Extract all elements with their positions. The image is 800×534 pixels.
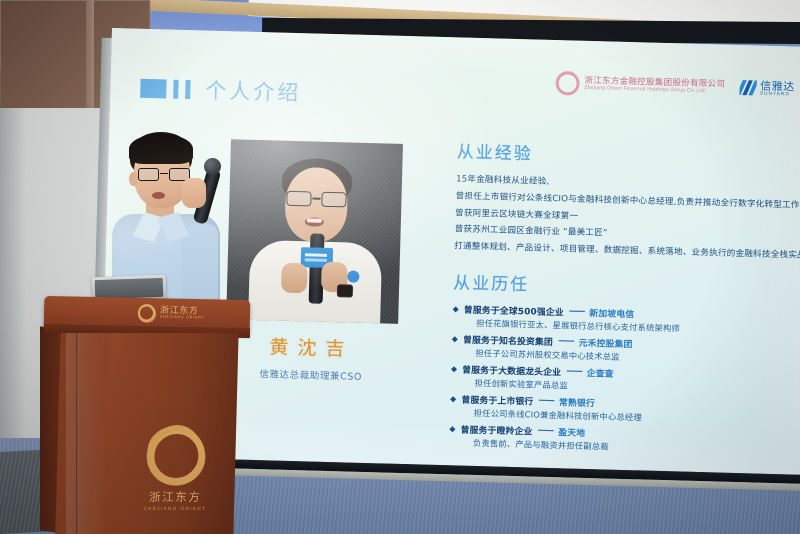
orient-flower-emblem-icon — [150, 430, 203, 482]
history-main-text: 曾服务于全球500强企业 — [464, 302, 564, 318]
history-main-text: 曾服务于大数据龙头企业 — [462, 362, 561, 378]
history-company: 企查查 — [587, 366, 614, 380]
podium-front-logo-en: ZHEJIANG ORIENT — [127, 506, 223, 511]
microphone-head-icon — [204, 158, 221, 175]
speaker-hand — [182, 178, 206, 208]
podium-sheen — [66, 333, 106, 534]
speaker-glasses-icon — [138, 168, 190, 182]
speaker-ear — [129, 172, 138, 186]
soffit-edge — [86, 0, 94, 116]
zhejiang-orient-logo: 浙江东方金融控股集团股份有限公司 Zhejiang Orient Financi… — [556, 72, 725, 99]
title-bar-icon — [140, 78, 167, 98]
history-dash: —— — [558, 336, 574, 346]
podium-front-logo: 浙江东方 ZHEJIANG ORIENT — [127, 430, 225, 511]
history-dash: —— — [538, 396, 554, 406]
podium-groove — [76, 333, 79, 534]
podium-logo-en: ZHEJIANG ORIENT — [160, 316, 205, 321]
history-item: ◆ 曾服务于上市银行 —— 常熟银行 担任公司条线CIO兼金融科技创新中心总经理 — [450, 392, 781, 427]
portrait-hand-left — [281, 263, 308, 294]
history-main-text: 曾服务于瞪羚企业 — [460, 422, 532, 437]
history-company: 新加坡电信 — [589, 306, 634, 320]
podium-top-logo: 浙江东方 ZHEJIANG ORIENT — [138, 304, 205, 322]
history-item: ◆ 曾服务于瞪羚企业 —— 盈天地 负责售前、产品与融资并担任副总裁 — [449, 422, 780, 457]
sunyard-logo-en: SUNYARD — [760, 92, 795, 98]
portrait-mouth — [305, 217, 324, 227]
experience-heading: 从业经验 — [456, 137, 787, 171]
diamond-bullet-icon: ◆ — [452, 334, 459, 343]
history-dash: —— — [537, 426, 553, 436]
speaker-name: 黄沈吉 — [225, 331, 398, 363]
portrait-glasses-icon — [285, 191, 347, 208]
sunyard-mark-icon — [739, 80, 756, 95]
slide-title-row: 个人介绍 — [140, 73, 302, 107]
history-item: ◆ 曾服务于大数据龙头企业 —— 企查查 担任创新实验室产品总监 — [450, 362, 781, 397]
history-dash: —— — [569, 307, 585, 317]
conference-room-photo: 个人介绍 浙江东方金融控股集团股份有限公司 Zhejiang Orient Fi… — [0, 0, 800, 534]
slide-title: 个人介绍 — [205, 75, 302, 108]
speaker-portrait-photo — [226, 139, 403, 324]
podium-front-logo-cn: 浙江东方 — [127, 489, 223, 505]
diamond-bullet-icon: ◆ — [452, 304, 459, 313]
history-dash: —— — [566, 367, 582, 377]
diamond-bullet-icon: ◆ — [450, 394, 457, 403]
history-company: 盈天地 — [558, 425, 585, 439]
history-company: 元禾控股集团 — [578, 335, 632, 349]
slide-logos: 浙江东方金融控股集团股份有限公司 Zhejiang Orient Financi… — [556, 72, 795, 100]
sunyard-logo: 信雅达 SUNYARD — [739, 80, 795, 97]
orient-flower-emblem-icon — [556, 72, 579, 95]
slide-text-column: 从业经验 15年金融科技从业经验, 曾担任上市银行对公条线CIO与金融科技创新中… — [449, 137, 787, 457]
history-company: 常熟银行 — [559, 395, 595, 409]
orient-flower-emblem-icon — [138, 304, 155, 321]
history-item: ◆ 曾服务于全球500强企业 —— 新加坡电信 担任花旗银行亚太、星展银行总行核… — [452, 302, 783, 337]
speaker-hair-front — [129, 134, 193, 164]
experience-lines: 15年金融科技从业经验, 曾担任上市银行对公条线CIO与金融科技创新中心总经理,… — [454, 171, 786, 264]
history-main-text: 曾服务于知名投资集团 — [463, 332, 553, 347]
speaker-mouth — [152, 192, 165, 199]
portrait-wristwatch — [337, 284, 353, 297]
history-main-text: 曾服务于上市银行 — [461, 392, 533, 407]
diamond-bullet-icon: ◆ — [449, 424, 456, 433]
history-heading: 从业历任 — [453, 268, 784, 302]
history-item: ◆ 曾服务于知名投资集团 —— 元禾控股集团 担任子公司苏州股权交易中心技术总监 — [451, 332, 782, 367]
title-bar-icon — [173, 79, 179, 98]
speaker-role: 信雅达总裁助理兼CSO — [221, 365, 401, 384]
diamond-bullet-icon: ◆ — [451, 364, 458, 373]
left-wall-shadow — [0, 108, 26, 458]
title-bar-icon — [185, 80, 191, 99]
